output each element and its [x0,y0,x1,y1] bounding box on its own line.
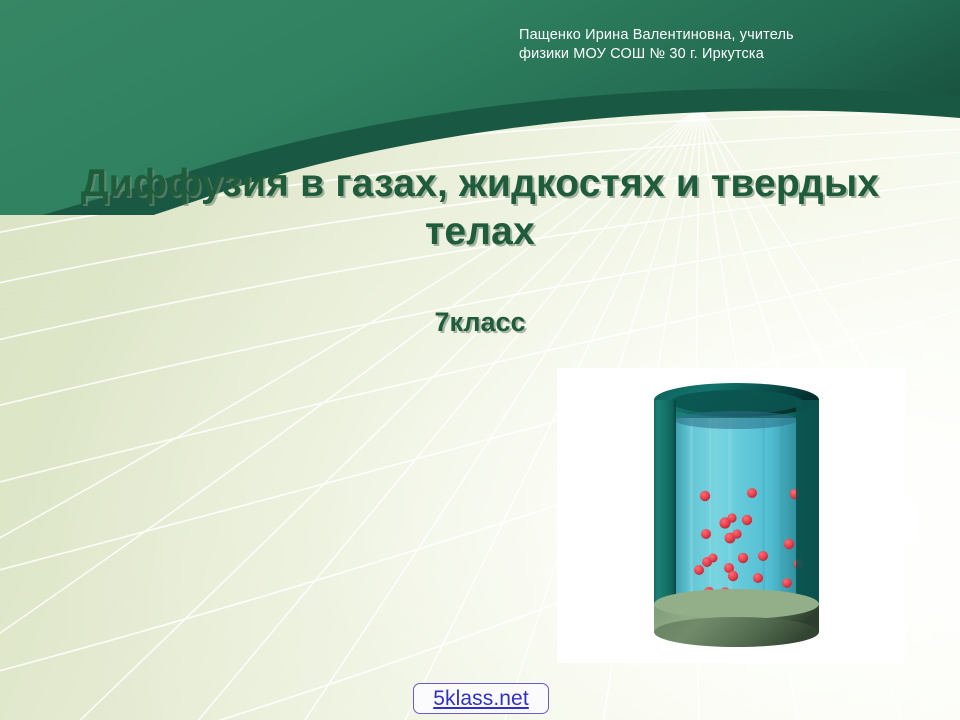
diffusion-cylinder-illustration [557,368,905,663]
author-credit: Пащенко Ирина Валентиновна, учитель физи… [519,26,919,64]
illustration-panel [557,368,905,663]
source-link-label[interactable]: 5klass.net [433,688,529,709]
presentation-slide: Пащенко Ирина Валентиновна, учитель физи… [0,0,960,720]
page-title: Диффузия в газах, жидкостях и твердых те… [80,160,880,256]
source-link-button[interactable]: 5klass.net [413,683,549,714]
grade-subtitle: 7класс [80,305,880,339]
